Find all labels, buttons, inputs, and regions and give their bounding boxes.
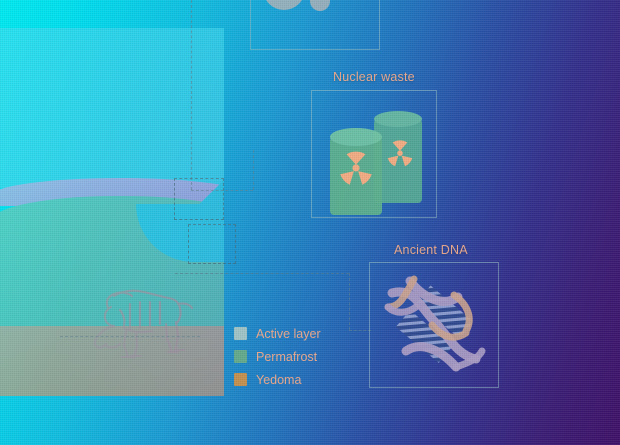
microbe-bubbles-icon (251, 0, 379, 49)
connector-dna-horizontal (175, 273, 349, 274)
connector-nuclear-vertical (253, 150, 254, 190)
panel-nuclear-waste[interactable] (311, 90, 437, 218)
legend-label-active-layer: Active layer (256, 327, 321, 341)
radiation-barrels-icon (312, 91, 436, 217)
legend-item-active-layer[interactable]: Active layer (234, 322, 321, 345)
infographic-canvas: Nuclear waste (0, 0, 620, 445)
legend-item-yedoma[interactable]: Yedoma (234, 368, 321, 391)
panel-microbes[interactable] (250, 0, 380, 50)
legend-swatch-active-layer (234, 327, 247, 340)
legend-swatch-permafrost (234, 350, 247, 363)
connector-ground-horizontal (60, 336, 200, 337)
legend-label-yedoma: Yedoma (256, 373, 301, 387)
dna-helix-icon (370, 263, 498, 387)
legend-swatch-yedoma (234, 373, 247, 386)
mammoth-skeleton-icon (78, 274, 198, 362)
connector-dna-tail (349, 330, 371, 331)
panel-title-dna: Ancient DNA (394, 243, 468, 257)
legend-item-permafrost[interactable]: Permafrost (234, 345, 321, 368)
connector-dna-vertical (349, 273, 350, 330)
connector-microbes-vertical (191, 0, 192, 190)
selection-box-lower[interactable] (188, 224, 236, 264)
panel-ancient-dna[interactable] (369, 262, 499, 388)
selection-box-upper[interactable] (174, 178, 224, 220)
map-legend: Active layer Permafrost Yedoma (234, 322, 321, 391)
panel-title-nuclear: Nuclear waste (333, 70, 415, 84)
legend-label-permafrost: Permafrost (256, 350, 317, 364)
